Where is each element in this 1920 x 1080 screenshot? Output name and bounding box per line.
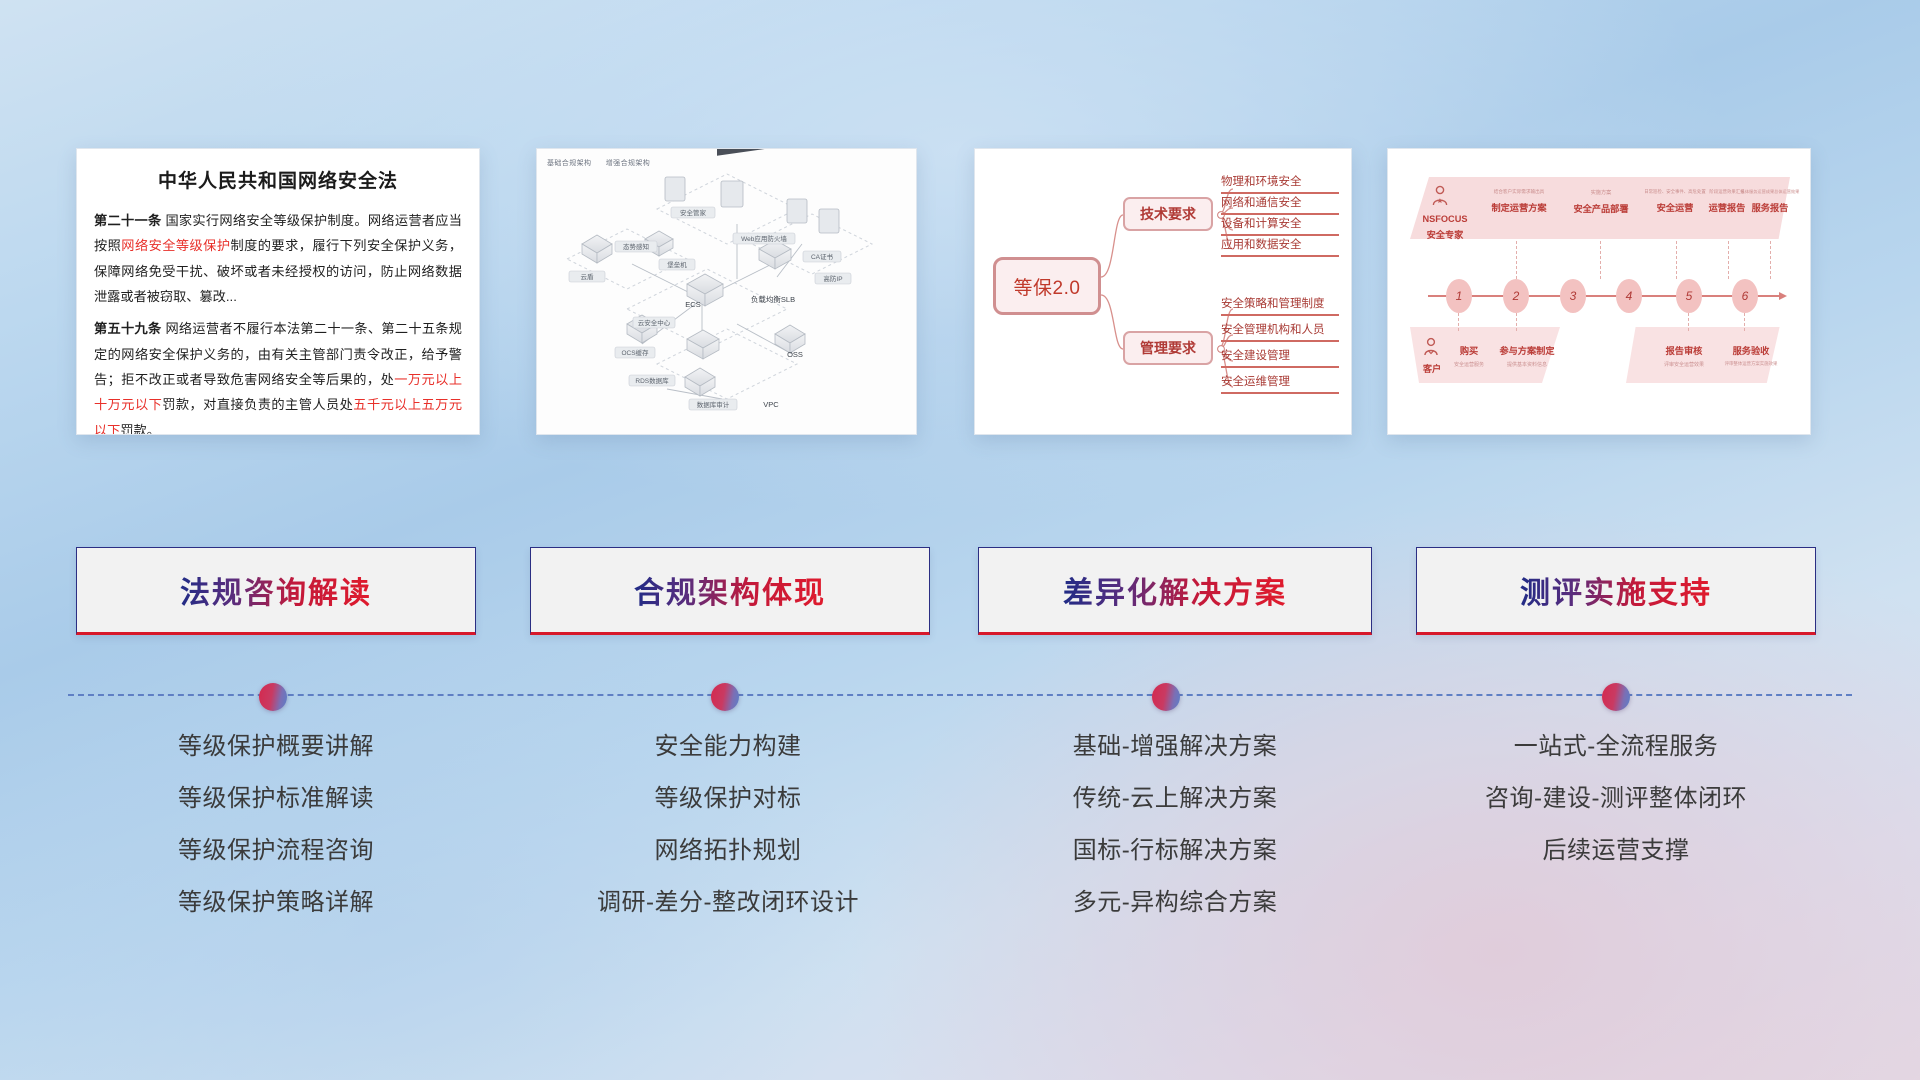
mindmap-root: 等保2.0: [993, 257, 1101, 315]
svg-text:Web应用防火墙: Web应用防火墙: [741, 234, 787, 243]
section-title-3: 差异化解决方案: [1063, 568, 1287, 612]
customer-label: 客户: [1414, 359, 1450, 377]
flow-bottom-step-3: 报告审核 评审安全运营效果: [1654, 341, 1714, 368]
card-compliance-architecture[interactable]: 基础合规架构 增强合规架构: [536, 148, 917, 435]
mindmap-leaf-mgmt-3: 安全建设管理: [1221, 347, 1339, 368]
mindmap-leaf-tech-4: 应用和数据安全: [1221, 236, 1339, 257]
expert-role: 安全专家: [1414, 227, 1476, 241]
svg-text:数据库审计: 数据库审计: [697, 400, 730, 409]
mindmap: 等保2.0 技术要求 管理要求 物理和环境安全 网络和通信安全 设备和计算安全 …: [975, 149, 1351, 434]
detail-item: 咨询-建设-测评整体闭环: [1414, 787, 1818, 811]
svg-text:CA证书: CA证书: [811, 252, 834, 261]
detail-item: 国标-行标解决方案: [976, 839, 1374, 863]
detail-item: 一站式-全流程服务: [1414, 735, 1818, 759]
flow-bottom-step-4-main: 服务验收: [1733, 346, 1770, 356]
flow-bottom-step-1: 购买 安全运营服务: [1446, 341, 1492, 368]
mindmap-branch-management: 管理要求: [1123, 331, 1213, 365]
detail-item: 等级保护概要讲解: [78, 735, 474, 759]
thumbnail-card-row: 中华人民共和国网络安全法 第二十一条 国家实行网络安全等级保护制度。网络运营者应…: [0, 148, 1920, 438]
flow-step-1-main: 制定运营方案: [1491, 203, 1546, 213]
flow-node-5: 5: [1676, 279, 1702, 313]
flow-connector-5: [1728, 241, 1729, 279]
section-title-box-4[interactable]: 测评实施支持: [1416, 547, 1816, 635]
svg-text:云盾: 云盾: [581, 273, 595, 281]
card-mindmap-dengbao[interactable]: 等保2.0 技术要求 管理要求 物理和环境安全 网络和通信安全 设备和计算安全 …: [974, 148, 1352, 435]
flow-connector-b6: [1744, 313, 1745, 331]
law-article-59: 第五十九条 网络运营者不履行本法第二十一条、第二十五条规定的网络安全保护义务的，…: [94, 316, 462, 435]
expert-label: NSFOCUS 安全专家: [1414, 209, 1476, 241]
detail-item: 传统-云上解决方案: [976, 787, 1374, 811]
customer-person-icon: [1422, 337, 1440, 359]
architecture-diagram: 基础合规架构 增强合规架构: [537, 149, 916, 434]
flow-bottom-step-1-tiny: 安全运营服务: [1446, 361, 1492, 368]
svg-text:态势感知: 态势感知: [623, 242, 649, 251]
flow-node-2: 2: [1503, 279, 1529, 313]
flow-bottom-step-4-tiny: 评审整体运营方案实施效果: [1714, 361, 1788, 367]
flow-node-6: 6: [1732, 279, 1758, 313]
customer-role: 客户: [1423, 364, 1441, 374]
section-title-2: 合规架构体现: [634, 568, 826, 612]
detail-column-3: 基础-增强解决方案 传统-云上解决方案 国标-行标解决方案 多元-异构综合方案: [976, 735, 1374, 943]
svg-text:负载均衡SLB: 负载均衡SLB: [751, 294, 795, 304]
flow-bottom-step-1-main: 购买: [1460, 346, 1478, 356]
legend-basic: 基础合规架构: [547, 160, 591, 167]
detail-item: 等级保护流程咨询: [78, 839, 474, 863]
svg-text:RDS数据库: RDS数据库: [635, 376, 669, 385]
flow-bottom-step-2-main: 参与方案制定: [1499, 346, 1554, 356]
mindmap-leaf-tech-1: 物理和环境安全: [1221, 173, 1339, 194]
flow-connector-b1: [1458, 313, 1459, 331]
law-card-body: 第二十一条 国家实行网络安全等级保护制度。网络运营者应当按照网络安全等级保护制度…: [77, 208, 479, 435]
architecture-svg: 云盾 态势感知 安全管家 堡垒机 Web应用防火墙 CA证书 高防IP: [537, 149, 917, 435]
law-article-21: 第二十一条 国家实行网络安全等级保护制度。网络运营者应当按照网络安全等级保护制度…: [94, 208, 462, 309]
detail-item: 等级保护标准解读: [78, 787, 474, 811]
flow-connector-4: [1676, 241, 1677, 279]
section-title-row: 法规咨询解读 合规架构体现 差异化解决方案 测评实施支持: [0, 547, 1920, 637]
detail-column-4: 一站式-全流程服务 咨询-建设-测评整体闭环 后续运营支撑: [1414, 735, 1818, 891]
section-title-1: 法规咨询解读: [180, 568, 372, 612]
mindmap-leaf-mgmt-1: 安全策略和管理制度: [1221, 295, 1339, 316]
svg-text:堡垒机: 堡垒机: [667, 260, 687, 269]
expert-brand: NSFOCUS: [1423, 214, 1468, 224]
flow-step-2: 实施方案 安全产品部署: [1564, 189, 1638, 217]
flow-bottom-step-2: 参与方案制定 提供基本资料信息: [1492, 341, 1562, 368]
timeline-dot-4[interactable]: [1602, 683, 1630, 711]
svg-text:安全管家: 安全管家: [680, 208, 707, 217]
svg-text:OSS: OSS: [787, 350, 803, 359]
flow-step-1: 结合客户实际需求输出具 制定运营方案: [1478, 189, 1560, 216]
section-title-box-3[interactable]: 差异化解决方案: [978, 547, 1372, 635]
flow-timeline-axis: [1428, 295, 1780, 297]
section-title-box-2[interactable]: 合规架构体现: [530, 547, 930, 635]
timeline-dashed-line: [68, 694, 1852, 696]
mindmap-leaf-tech-2: 网络和通信安全: [1221, 194, 1339, 215]
flow-step-2-main: 安全产品部署: [1573, 204, 1628, 214]
svg-text:OCS缓存: OCS缓存: [621, 348, 649, 357]
mindmap-leaf-mgmt-4: 安全运维管理: [1221, 373, 1339, 394]
flow-node-4: 4: [1616, 279, 1642, 313]
mindmap-leaf-tech-3: 设备和计算安全: [1221, 215, 1339, 236]
detail-item: 调研-差分-整改闭环设计: [528, 891, 928, 915]
flow-connector-6: [1770, 241, 1771, 279]
mindmap-leaf-mgmt-2: 安全管理机构和人员: [1221, 321, 1339, 342]
flow-node-1: 1: [1446, 279, 1472, 313]
flow-step-1-sub: 结合客户实际需求输出具: [1478, 189, 1560, 195]
flow-bottom-step-3-tiny: 评审安全运营效果: [1654, 361, 1714, 368]
flow-step-5-sub: 总体服务运营成果总体运营效果: [1740, 189, 1800, 195]
detail-item: 网络拓扑规划: [528, 839, 928, 863]
section-title-box-1[interactable]: 法规咨询解读: [76, 547, 476, 635]
section-title-4: 测评实施支持: [1520, 568, 1712, 612]
infographic-canvas: 中华人民共和国网络安全法 第二十一条 国家实行网络安全等级保护制度。网络运营者应…: [0, 0, 1920, 1080]
flow-step-3-main: 安全运营: [1657, 203, 1694, 213]
detail-column-2: 安全能力构建 等级保护对标 网络拓扑规划 调研-差分-整改闭环设计: [528, 735, 928, 943]
detail-column-1: 等级保护概要讲解 等级保护标准解读 等级保护流程咨询 等级保护策略详解: [78, 735, 474, 943]
expert-person-icon: [1430, 185, 1450, 209]
svg-text:高防IP: 高防IP: [823, 274, 842, 283]
mindmap-branch-technical: 技术要求: [1123, 197, 1213, 231]
detail-item: 基础-增强解决方案: [976, 735, 1374, 759]
svg-text:ECS: ECS: [685, 300, 700, 309]
detail-item: 安全能力构建: [528, 735, 928, 759]
law-article-59-text-b: 罚款，对直接负责的主管人员处: [162, 397, 353, 412]
law-article-21-label: 第二十一条: [94, 213, 161, 228]
legend-enhanced: 增强合规架构: [606, 160, 650, 167]
detail-item: 多元-异构综合方案: [976, 891, 1374, 915]
law-article-21-highlight: 网络安全等级保护: [121, 238, 230, 253]
svg-text:VPC: VPC: [763, 400, 779, 409]
flow-connector-b2: [1516, 313, 1517, 331]
card-cybersecurity-law[interactable]: 中华人民共和国网络安全法 第二十一条 国家实行网络安全等级保护制度。网络运营者应…: [76, 148, 480, 435]
detail-item: 等级保护对标: [528, 787, 928, 811]
timeline-dot-3[interactable]: [1152, 683, 1180, 711]
detail-item: 后续运营支撑: [1414, 839, 1818, 863]
law-article-59-text-c: 罚款。: [120, 423, 160, 435]
flow-bottom-step-3-main: 报告审核: [1666, 346, 1703, 356]
detail-item: 等级保护策略详解: [78, 891, 474, 915]
flow-step-5-main: 服务报告: [1752, 203, 1789, 213]
flow-bottom-step-4: 服务验收 评审整体运营方案实施效果: [1714, 341, 1788, 367]
timeline-dot-2[interactable]: [711, 683, 739, 711]
service-flow-diagram: NSFOCUS 安全专家 结合客户实际需求输出具 制定运营方案 实施方案 安全产…: [1388, 149, 1810, 434]
flow-node-3: 3: [1560, 279, 1586, 313]
law-article-59-label: 第五十九条: [94, 321, 161, 336]
flow-connector-2: [1516, 241, 1517, 279]
flow-bottom-step-2-tiny: 提供基本资料信息: [1492, 361, 1562, 368]
flow-connector-b5: [1688, 313, 1689, 331]
architecture-legend: 基础合规架构 增强合规架构: [547, 158, 662, 168]
flow-step-2-sub: 实施方案: [1564, 189, 1638, 196]
law-card-title: 中华人民共和国网络安全法: [77, 166, 479, 193]
svg-text:云安全中心: 云安全中心: [638, 318, 671, 327]
flow-connector-3: [1600, 241, 1601, 279]
flow-step-5: 总体服务运营成果总体运营效果 服务报告: [1740, 189, 1800, 216]
timeline-dot-1[interactable]: [259, 683, 287, 711]
card-service-flow[interactable]: NSFOCUS 安全专家 结合客户实际需求输出具 制定运营方案 实施方案 安全产…: [1387, 148, 1811, 435]
